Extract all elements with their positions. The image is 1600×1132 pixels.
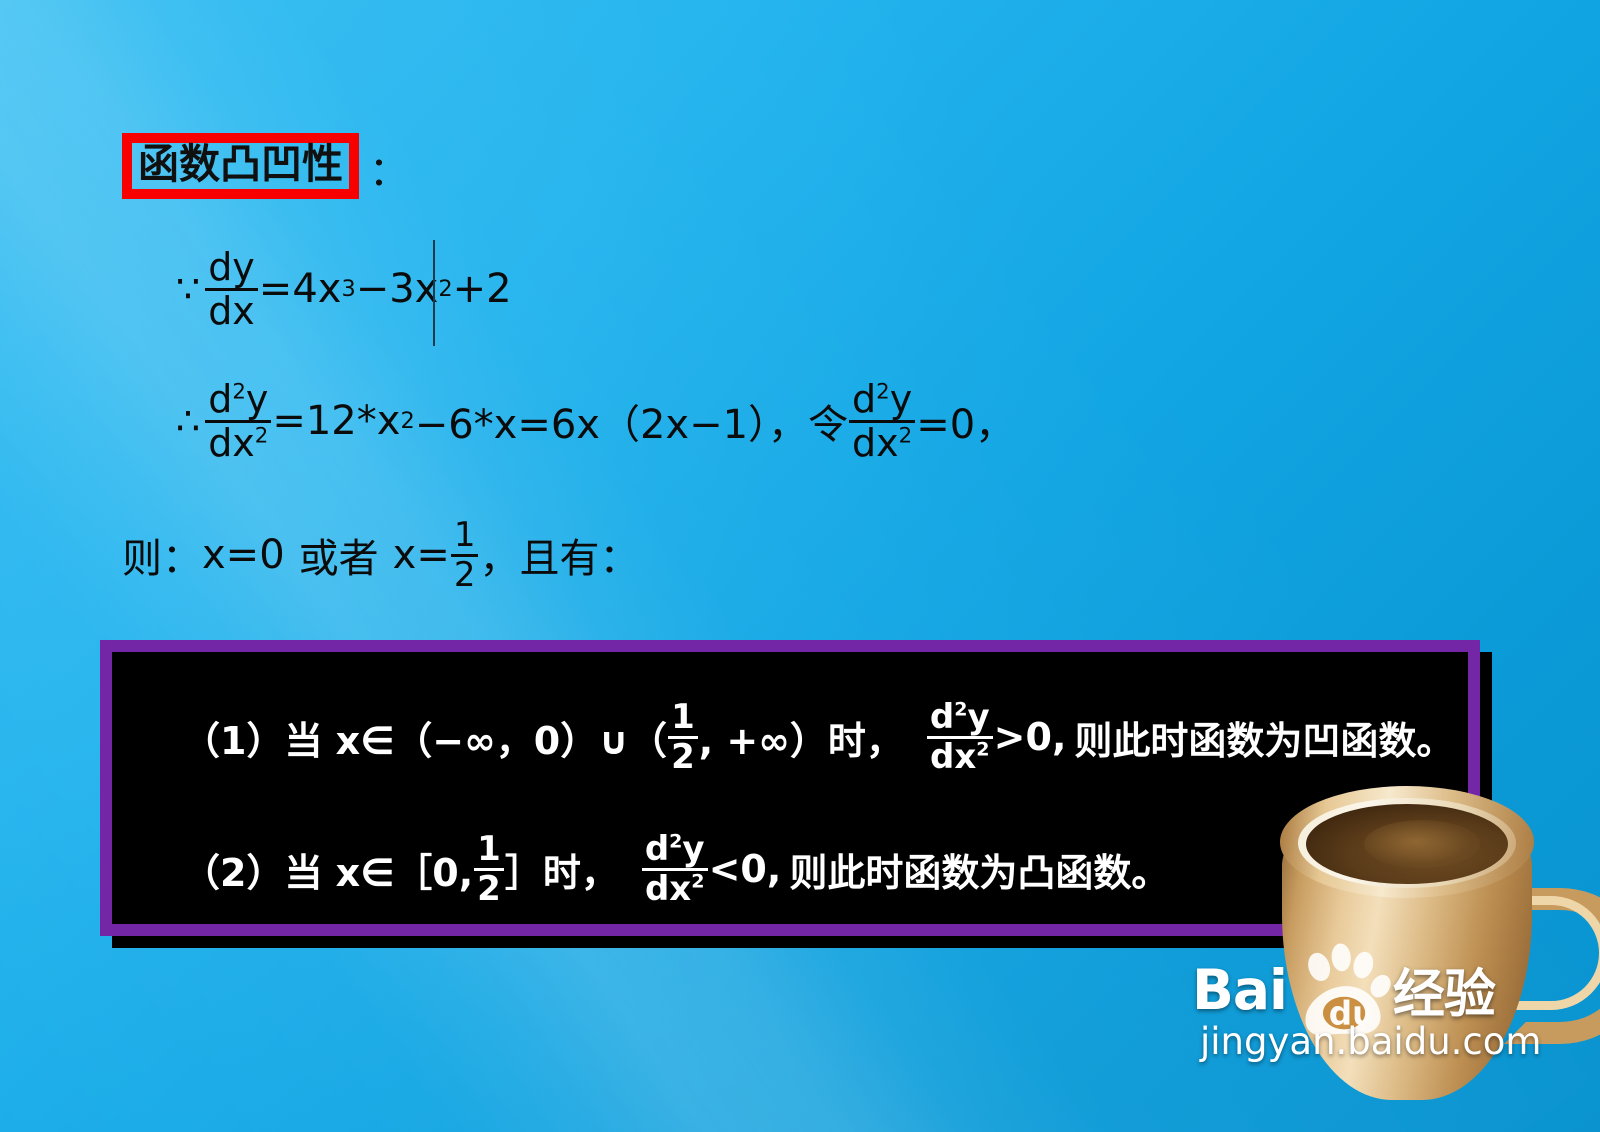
then-prefix: 则： (122, 526, 202, 584)
fraction-numerator: d2y (642, 832, 708, 867)
then-suffix: ，且有： (479, 526, 639, 584)
numerator-exponent: 2 (232, 379, 246, 404)
title-colon: ： (369, 139, 409, 197)
formula-second-derivative: ∴ d2y dx2 =12*x 2 −6*x=6x（2x−1）， 令 d2y d… (176, 380, 1015, 463)
numerator-y: y (682, 829, 704, 869)
slide-canvas: 函数凸凹性 ： ∵ dy dx = 4x 3 −3x 2 +2 ∴ d2y dx… (0, 0, 1600, 1132)
denominator-dx: dx (645, 869, 691, 909)
fraction-numerator: d2y (205, 380, 271, 419)
numerator-y: y (890, 377, 913, 421)
fraction-dy-dx: dy dx (205, 248, 258, 331)
fraction-denominator: 2 (668, 740, 698, 775)
baidu-site-url: jingyan.baidu.com (1200, 1020, 1541, 1063)
fraction-numerator: d2y (849, 380, 915, 419)
comparison-operator: >0, (994, 715, 1067, 759)
fraction-numerator: d2y (927, 700, 993, 735)
fraction-numerator: 1 (474, 832, 504, 867)
fraction-denominator: 2 (474, 872, 504, 907)
numerator-d: d (645, 829, 669, 869)
therefore-symbol: ∴ (176, 399, 200, 443)
comparison-operator: <0, (709, 847, 782, 891)
rhs-12x: =12*x (272, 398, 400, 444)
term-minus-3x: −3x (356, 266, 439, 312)
equals-zero: =0， (916, 392, 1015, 450)
numerator-exponent: 2 (954, 699, 967, 721)
conclusion-mid: , +∞）时， (699, 710, 904, 765)
denominator-dx: dx (852, 421, 899, 465)
numerator-y: y (246, 377, 269, 421)
conclusion-lead: 当 x∈（−∞，0）∪（ (284, 710, 667, 765)
fraction-d2y-dx2: d2y dx2 (642, 832, 708, 906)
numerator-exponent: 2 (876, 379, 890, 404)
fraction-numerator: dy (205, 248, 258, 287)
denominator-exponent: 2 (691, 870, 704, 892)
term-4x: 4x (292, 266, 341, 312)
title-red-box: 函数凸凹性 (122, 133, 359, 199)
fraction-one-half: 1 2 (474, 832, 504, 906)
conclusion-item-2: （2） 当 x∈［0, 1 2 ］时， d2y dx2 <0, 则此时函数为凸函… (182, 832, 1169, 906)
denominator-exponent: 2 (899, 423, 913, 448)
or-label: 或者 (299, 526, 379, 584)
fraction-one-half: 1 2 (668, 700, 698, 774)
fraction-denominator: dx2 (642, 872, 708, 907)
root-x-zero: x=0 (202, 532, 285, 578)
fraction-d2y-dx2-second: d2y dx2 (849, 380, 915, 463)
fraction-denominator: dx2 (205, 424, 271, 463)
therefore-because-symbol: ∵ (176, 267, 200, 311)
baidu-watermark: Bai 经验 du jingyan.baidu.com (1192, 952, 1600, 1082)
text-cursor[interactable] (433, 240, 435, 346)
conclusion-mid: ］时， (505, 842, 619, 897)
conclusion-index: （1） (182, 710, 284, 765)
coffee-highlight (1364, 820, 1480, 868)
fraction-one-half: 1 2 (451, 518, 479, 592)
denominator-dx: dx (208, 421, 255, 465)
numerator-exponent: 2 (669, 831, 682, 853)
conclusion-tail: 则此时函数为凹函数。 (1074, 710, 1454, 765)
baidu-wordmark-cn: 经验 (1393, 952, 1495, 1027)
fraction-d2y-dx2: d2y dx2 (927, 700, 993, 774)
numerator-d: d (930, 697, 954, 737)
equals-sign: = (259, 266, 293, 312)
numerator-d: d (852, 377, 876, 421)
root-x-equals: x= (393, 532, 450, 578)
conclusion-item-1: （1） 当 x∈（−∞，0）∪（ 1 2 , +∞）时， d2y dx2 >0,… (182, 700, 1454, 774)
fraction-denominator: dx2 (849, 424, 915, 463)
page-title: 函数凸凹性 ： (122, 133, 409, 199)
fraction-numerator: 1 (668, 700, 698, 735)
ling-label: 令 (808, 392, 848, 450)
formula-first-derivative: ∵ dy dx = 4x 3 −3x 2 +2 (176, 248, 512, 331)
denominator-exponent: 2 (976, 738, 989, 760)
numerator-y: y (968, 697, 990, 737)
title-label: 函数凸凹性 (138, 140, 343, 188)
rhs-factored: −6*x=6x（2x−1）， (415, 392, 808, 450)
fraction-d2y-dx2: d2y dx2 (205, 380, 271, 463)
term-plus-2: +2 (453, 266, 512, 312)
numerator-d: d (208, 377, 232, 421)
conclusion-lead: 当 x∈［0, (284, 842, 473, 897)
fraction-denominator: dx2 (927, 740, 993, 775)
fraction-denominator: dx (205, 292, 258, 331)
denominator-exponent: 2 (255, 423, 269, 448)
baidu-wordmark-bai: Bai (1192, 958, 1287, 1022)
denominator-dx: dx (930, 737, 976, 777)
roots-line: 则： x=0 或者 x= 1 2 ，且有： (122, 518, 639, 592)
fraction-denominator: 2 (451, 558, 479, 593)
conclusion-index: （2） (182, 842, 284, 897)
conclusion-tail: 则此时函数为凸函数。 (789, 842, 1169, 897)
fraction-numerator: 1 (451, 518, 479, 553)
